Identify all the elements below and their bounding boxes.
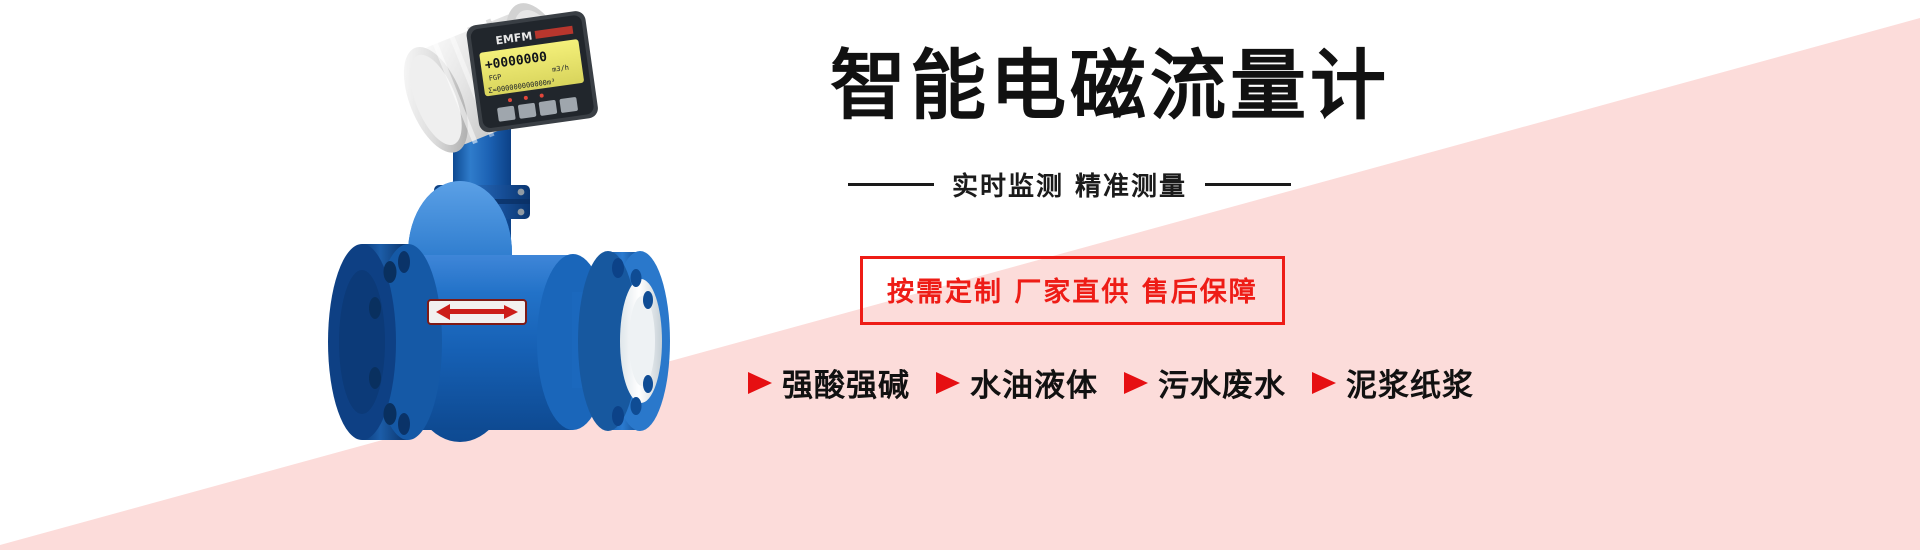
page-subtitle: 实时监测 精准测量 xyxy=(952,166,1187,203)
feature-label: 水油液体 xyxy=(970,360,1098,405)
promo-text: 按需定制 厂家直供 售后保障 xyxy=(887,277,1258,308)
arrow-right-icon xyxy=(1312,372,1336,394)
subtitle-row: 实时监测 精准测量 xyxy=(848,166,1288,203)
feature-item-1: 强酸强碱 xyxy=(748,360,910,405)
arrow-right-icon xyxy=(936,372,960,394)
page-title: 智能电磁流量计 xyxy=(830,48,1390,124)
arrow-right-icon xyxy=(748,372,772,394)
flow-direction-arrow xyxy=(428,300,526,324)
flowmeter-left-flange xyxy=(328,244,442,440)
converter-display-panel: EMFM +0000000 FGP m3/h Σ=000000000000m³ xyxy=(465,10,599,134)
feature-label: 污水废水 xyxy=(1158,360,1286,405)
feature-item-4: 泥浆纸浆 xyxy=(1312,360,1474,405)
keypad-button-1 xyxy=(497,106,516,122)
promo-badge: 按需定制 厂家直供 售后保障 xyxy=(860,256,1285,325)
keypad-button-4 xyxy=(559,97,578,113)
feature-list: 强酸强碱 水油液体 污水废水 泥浆纸浆 xyxy=(748,360,1474,405)
banner-copy: 智能电磁流量计 实时监测 精准测量 按需定制 厂家直供 售后保障 强酸强碱 水油… xyxy=(720,0,1780,550)
feature-item-3: 污水废水 xyxy=(1124,360,1286,405)
divider-line-right xyxy=(1205,183,1291,186)
arrow-right-icon xyxy=(1124,372,1148,394)
feature-item-2: 水油液体 xyxy=(936,360,1098,405)
keypad-button-2 xyxy=(518,103,537,119)
feature-label: 泥浆纸浆 xyxy=(1346,360,1474,405)
feature-label: 强酸强碱 xyxy=(782,360,910,405)
electromagnetic-flowmeter-illustration: EMFM +0000000 FGP m3/h Σ=000000000000m³ xyxy=(300,0,770,490)
product-banner: EMFM +0000000 FGP m3/h Σ=000000000000m³ xyxy=(0,0,1920,550)
divider-line-left xyxy=(848,183,934,186)
keypad-button-3 xyxy=(539,100,558,116)
flowmeter-right-flange xyxy=(578,251,670,431)
